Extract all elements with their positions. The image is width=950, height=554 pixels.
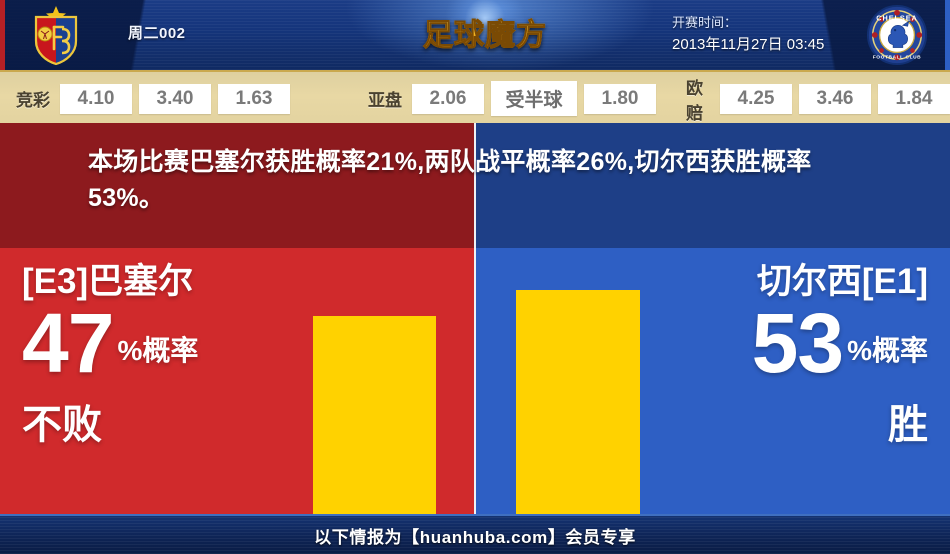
odds-cell-home[interactable]: 4.10 [60,84,132,114]
home-percent-suffix: %概率 [113,329,198,383]
match-number: 周二002 [128,22,186,43]
footer-bar: 以下情报为【huanhuba.com】会员专享 [0,514,950,554]
handicap-away-odds[interactable]: 1.80 [584,84,656,114]
header-right-blue-edge [945,0,950,70]
brand-logo: 足球魔方 [415,6,555,62]
odds-group-label: 竞彩 [16,86,50,111]
handicap-home-odds[interactable]: 2.06 [412,84,484,114]
away-team-block: 切尔西[E1] 53 %概率 胜 [658,264,928,445]
chart-center-divider [474,248,476,514]
odds-group-label: 欧赔 [686,74,710,124]
away-verdict: 胜 [658,405,928,445]
basel-crest-icon [24,3,88,67]
kickoff-time: 2013年11月27日 03:45 [672,33,824,54]
svg-text:CHELSEA: CHELSEA [876,13,917,22]
svg-text:FOOTBALL CLUB: FOOTBALL CLUB [873,54,922,60]
summary-band: 本场比赛巴塞尔获胜概率21%,两队战平概率26%,切尔西获胜概率53%。 [0,123,950,248]
odds-group-asian-handicap: 亚盘 2.06 受半球 1.80 [368,72,656,125]
home-percent-row: 47 %概率 [22,303,292,384]
away-probability-bar [516,290,640,514]
kickoff-label: 开赛时间： [672,12,737,31]
header-left-red-edge [0,0,5,70]
match-probability-infographic: 周二002 足球魔方 开赛时间： 2013年11月27日 03:45 CHELS… [0,0,950,552]
home-team-block: [E3]巴塞尔 47 %概率 不败 [22,264,292,445]
euro-odds-away[interactable]: 1.84 [878,84,950,114]
odds-group-european: 欧赔 4.25 3.46 1.84 [686,72,950,125]
header-bar: 周二002 足球魔方 开赛时间： 2013年11月27日 03:45 CHELS… [0,0,950,70]
handicap-line[interactable]: 受半球 [491,81,577,116]
euro-odds-draw[interactable]: 3.46 [799,84,871,114]
footer-text: 以下情报为【huanhuba.com】会员专享 [314,523,636,548]
odds-group-jingcai: 竞彩 4.10 3.40 1.63 [16,72,290,125]
chelsea-crest-icon: CHELSEA FOOTBALL CLUB [866,4,928,66]
home-percent-value: 47 [22,303,113,384]
home-verdict: 不败 [22,405,292,445]
away-percent-row: 53 %概率 [658,303,928,384]
odds-cell-away[interactable]: 1.63 [218,84,290,114]
probability-chart: [E3]巴塞尔 47 %概率 不败 切尔西[E1] 53 %概率 胜 [0,248,950,514]
odds-group-label: 亚盘 [368,86,402,111]
away-percent-suffix: %概率 [843,329,928,383]
euro-odds-home[interactable]: 4.25 [720,84,792,114]
odds-cell-draw[interactable]: 3.40 [139,84,211,114]
brand-logo-text: 足球魔方 [415,10,555,54]
away-percent-value: 53 [752,303,843,384]
home-probability-bar [313,316,436,514]
odds-bar: 竞彩 4.10 3.40 1.63 亚盘 2.06 受半球 1.80 欧赔 4.… [0,70,950,125]
summary-text: 本场比赛巴塞尔获胜概率21%,两队战平概率26%,切尔西获胜概率53%。 [88,145,878,216]
